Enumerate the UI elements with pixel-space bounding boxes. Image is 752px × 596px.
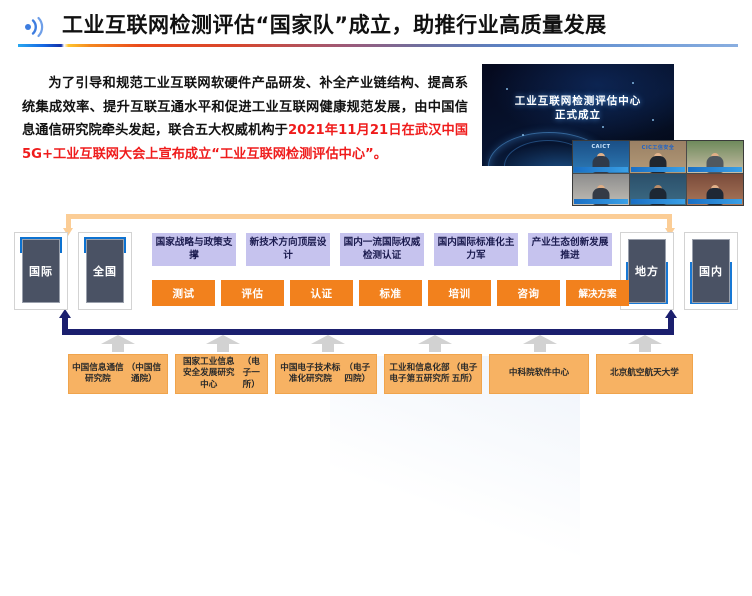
service-box[interactable]: 解决方案 [566,280,629,306]
header: 工业互联网检测评估“国家队”成立，助推行业高质量发展 [0,0,752,48]
thumbnail-logo: CAICT [592,144,611,150]
up-arrow-icon [418,335,452,352]
participant-thumbnail: CIC工信安全 [630,141,686,173]
institution-box[interactable]: 中国信息通信研究院（中国信通院） [68,354,168,394]
ceremony-screen-text: 工业互联网检测评估中心 正式成立 [482,94,674,122]
pillar-label: 地方 [635,263,659,279]
article-paragraph: 为了引导和规范工业互联网软硬件产品研发、补全产业链结构、提高系统集成效率、提升互… [22,72,468,166]
institution-box[interactable]: 国家工业信息安全发展研究中心（电子一所） [175,354,268,394]
bottom-connector-arrow [62,309,674,335]
header-divider [18,44,738,47]
ceremony-title-line2: 正式成立 [482,108,674,122]
institution-box[interactable]: 中科院软件中心 [489,354,589,394]
service-box[interactable]: 咨询 [497,280,560,306]
up-arrow-icon [628,335,662,352]
institution-box[interactable]: 北京航空航天大学 [596,354,693,394]
video-conference-grid: CAICT CIC工信安全 [572,140,744,206]
broadcast-wave-icon [22,16,48,38]
thumbnail-logo: CIC工信安全 [642,144,675,151]
page-title: 工业互联网检测评估“国家队”成立，助推行业高质量发展 [62,8,607,42]
capability-box[interactable]: 产业生态创新发展推进 [528,233,612,266]
institution-box[interactable]: 工业和信息化部电子第五研究所（电子五所） [384,354,482,394]
participant-thumbnail: CAICT [573,141,629,173]
participant-thumbnail [687,141,743,173]
pillar-label: 国际 [29,263,53,279]
capability-box[interactable]: 国内一流国际权威检测认证 [340,233,424,266]
participant-thumbnail [687,174,743,206]
pillar-domestic[interactable]: 国内 [684,232,738,310]
capability-box[interactable]: 国家战略与政策支撑 [152,233,236,266]
up-arrow-icon [206,335,240,352]
pillar-label: 国内 [699,263,723,279]
pillar-international[interactable]: 国际 [14,232,68,310]
participant-thumbnail [573,174,629,206]
slide-canvas: 工业互联网检测评估“国家队”成立，助推行业高质量发展 为了引导和规范工业互联网软… [0,0,752,407]
organization-diagram: 国际 全国 地方 国内 国家战略与政策支撑 新技术方向顶层设计 国内一流国际权威… [0,206,752,407]
capability-box[interactable]: 国内国际标准化主力军 [434,233,518,266]
institution-box[interactable]: 中国电子技术标准化研究院（电子四院） [275,354,377,394]
up-arrow-icon [523,335,557,352]
service-box[interactable]: 培训 [428,280,491,306]
service-box[interactable]: 标准 [359,280,422,306]
pillar-label: 全国 [93,263,117,279]
up-arrow-icon [101,335,135,352]
service-box[interactable]: 认证 [290,280,353,306]
up-arrow-icon [311,335,345,352]
pillar-national[interactable]: 全国 [78,232,132,310]
service-box[interactable]: 评估 [221,280,284,306]
participant-thumbnail [630,174,686,206]
service-box[interactable]: 测试 [152,280,215,306]
ceremony-title-line1: 工业互联网检测评估中心 [482,94,674,108]
capability-box[interactable]: 新技术方向顶层设计 [246,233,330,266]
event-photo-collage: 工业互联网检测评估中心 正式成立 CAICT CIC工信安全 [482,64,742,204]
